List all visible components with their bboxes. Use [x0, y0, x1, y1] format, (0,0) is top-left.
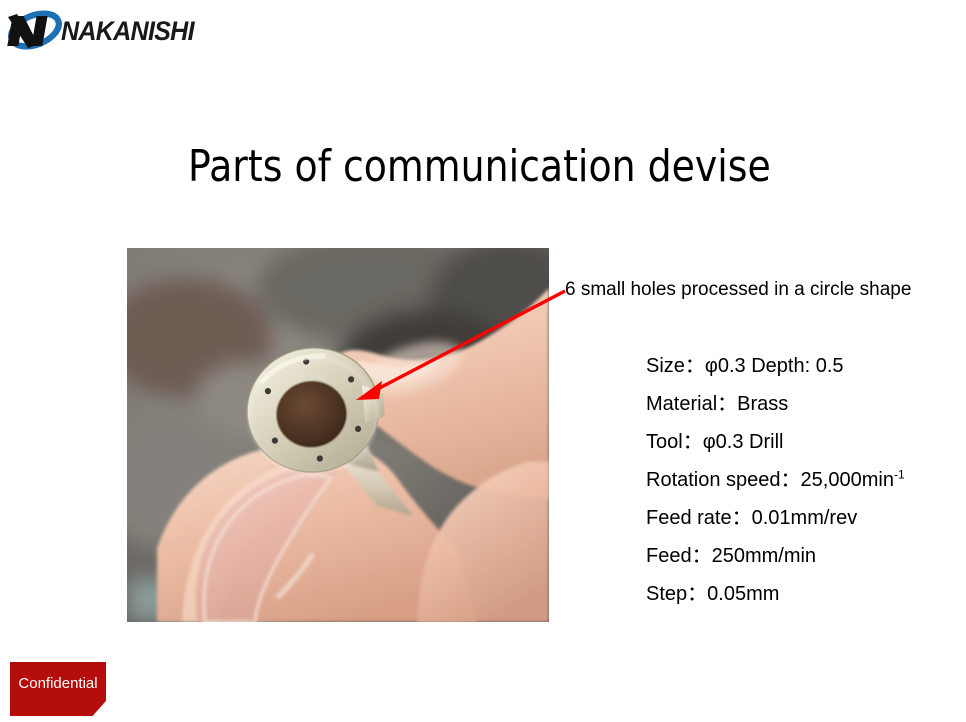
nakanishi-oval-n-logo-icon: [4, 8, 66, 52]
workpiece-photo: [127, 248, 549, 622]
spec-list: Size：φ0.3 Depth: 0.5 Material：Brass Tool…: [646, 352, 966, 618]
spec-row-material: Material：Brass: [646, 390, 966, 428]
confidential-badge: Confidential: [10, 662, 106, 716]
page-title: Parts of communication devise: [188, 140, 771, 194]
spec-rotation-speed-main: Rotation speed：25,000min: [646, 469, 894, 491]
spec-row-tool: Tool：φ0.3 Drill: [646, 428, 966, 466]
spec-row-feed: Feed：250mm/min: [646, 542, 966, 580]
spec-row-rotation-speed: Rotation speed：25,000min-1: [646, 466, 966, 504]
spec-row-feed-rate: Feed rate：0.01mm/rev: [646, 504, 966, 542]
callout-label: 6 small holes processed in a circle shap…: [565, 279, 911, 301]
spec-row-step: Step：0.05mm: [646, 580, 966, 618]
nakanishi-logo: NAKANISHI: [4, 8, 204, 54]
slide-canvas: NAKANISHI Parts of communication devise: [0, 0, 966, 722]
spec-rotation-speed-exponent: -1: [894, 467, 905, 481]
nakanishi-wordmark: NAKANISHI: [61, 16, 194, 47]
confidential-badge-label: Confidential: [10, 662, 106, 704]
spec-row-size: Size：φ0.3 Depth: 0.5: [646, 352, 966, 390]
